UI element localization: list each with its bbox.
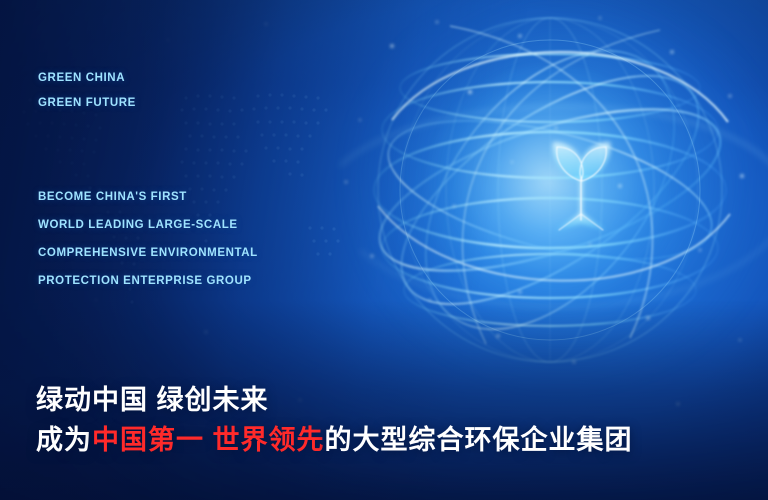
chinese-headline-block: 绿动中国 绿创未来 成为中国第一 世界领先的大型综合环保企业集团 <box>36 380 633 460</box>
english-tagline-block: GREEN CHINA GREEN FUTURE <box>38 66 338 116</box>
english-statement-line-4: PROTECTION ENTERPRISE GROUP <box>38 267 368 295</box>
chinese-headline-line-1: 绿动中国 绿创未来 <box>36 380 633 420</box>
chinese-headline-suffix: 的大型综合环保企业集团 <box>325 425 633 455</box>
banner-image: GREEN CHINA GREEN FUTURE BECOME CHINA'S … <box>0 0 768 500</box>
chinese-headline-prefix: 成为 <box>36 425 92 455</box>
english-tagline-line-2: GREEN FUTURE <box>38 91 338 116</box>
english-statement-line-2: WORLD LEADING LARGE-SCALE <box>38 211 368 239</box>
english-statement-line-1: BECOME CHINA'S FIRST <box>38 183 368 211</box>
chinese-headline-line-2: 成为中国第一 世界领先的大型综合环保企业集团 <box>36 420 633 460</box>
english-statement-line-3: COMPREHENSIVE ENVIRONMENTAL <box>38 239 368 267</box>
chinese-headline-highlight: 中国第一 世界领先 <box>92 425 325 455</box>
english-statement-block: BECOME CHINA'S FIRST WORLD LEADING LARGE… <box>38 183 368 295</box>
english-tagline-line-1: GREEN CHINA <box>38 66 338 91</box>
